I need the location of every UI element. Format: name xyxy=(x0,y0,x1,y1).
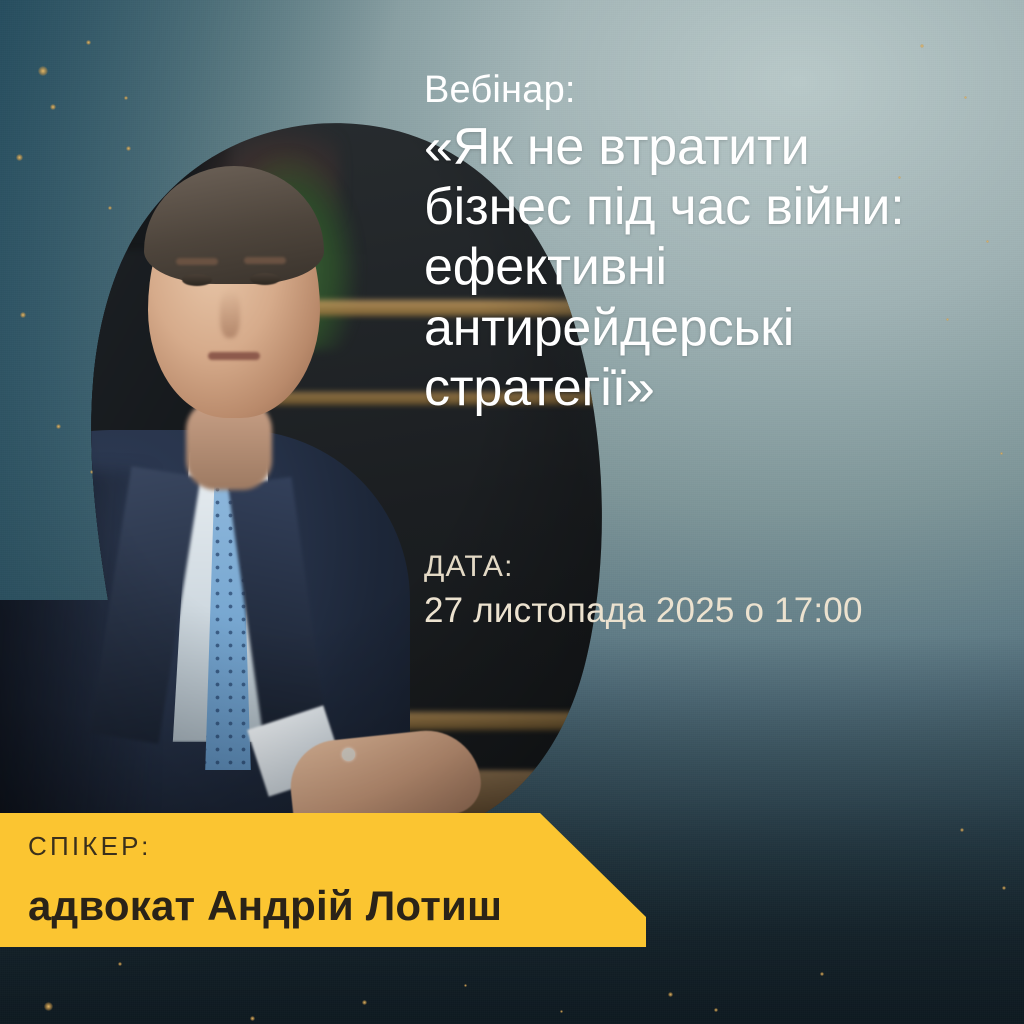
headline-line-3: ефективні xyxy=(424,237,1004,297)
kicker-label: Вебінар: xyxy=(424,68,1004,113)
speaker-banner-content: СПІКЕР: адвокат Андрій Лотиш xyxy=(28,831,646,930)
headline-block: Вебінар: «Як не втратити бізнес під час … xyxy=(424,68,1004,418)
speaker-label: СПІКЕР: xyxy=(28,831,646,862)
headline-line-1: «Як не втратити xyxy=(424,117,1004,177)
date-block: ДАТА: 27 листопада 2025 о 17:00 xyxy=(424,548,984,632)
date-label: ДАТА: xyxy=(424,548,984,586)
speaker-name: адвокат Андрій Лотиш xyxy=(28,882,646,930)
page-title: «Як не втратити бізнес під час війни: еф… xyxy=(424,117,1004,419)
headline-line-4: антирейдерські xyxy=(424,298,1004,358)
speaker-banner: СПІКЕР: адвокат Андрій Лотиш xyxy=(0,813,646,947)
headline-line-2: бізнес під час війни: xyxy=(424,177,1004,237)
webinar-announcement-poster: Вебінар: «Як не втратити бізнес під час … xyxy=(0,0,1024,1024)
date-value: 27 листопада 2025 о 17:00 xyxy=(424,590,984,632)
headline-line-5: стратегії» xyxy=(424,358,1004,418)
